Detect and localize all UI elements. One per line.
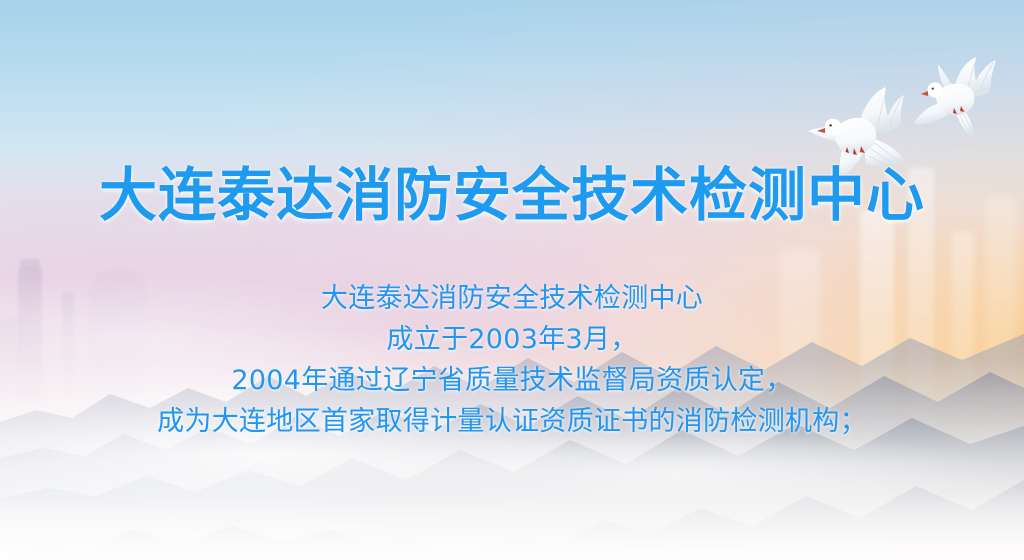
description-line: 成立于2003年3月， <box>0 319 1024 360</box>
banner-content: 大连泰达消防安全技术检测中心 大连泰达消防安全技术检测中心 成立于2003年3月… <box>0 0 1024 560</box>
description-line: 成为大连地区首家取得计量认证资质证书的消防检测机构； <box>0 401 1024 442</box>
description-line: 大连泰达消防安全技术检测中心 <box>0 278 1024 319</box>
page-title: 大连泰达消防安全技术检测中心 <box>0 165 1024 226</box>
description-block: 大连泰达消防安全技术检测中心 成立于2003年3月， 2004年通过辽宁省质量技… <box>0 278 1024 442</box>
description-line: 2004年通过辽宁省质量技术监督局资质认定， <box>0 360 1024 401</box>
promo-banner: 大连泰达消防安全技术检测中心 大连泰达消防安全技术检测中心 成立于2003年3月… <box>0 0 1024 560</box>
